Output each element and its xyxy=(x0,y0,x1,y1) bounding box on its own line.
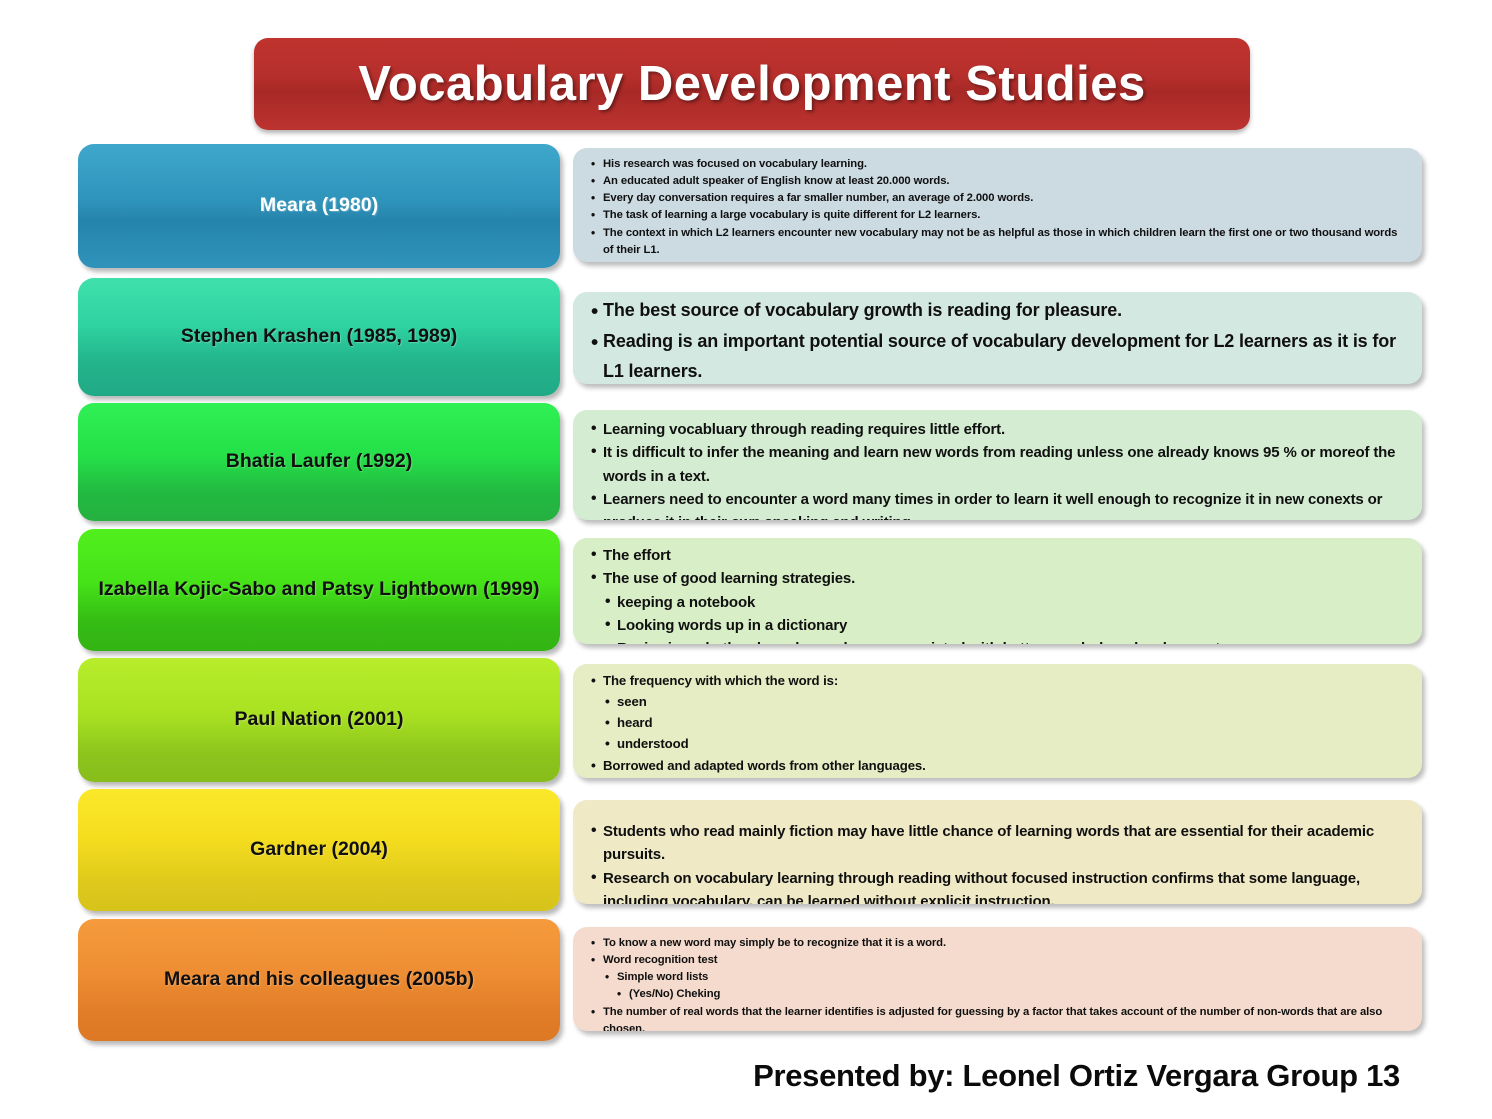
infographic-canvas: Vocabulary Development Studies Meara (19… xyxy=(0,0,1492,1119)
study-label-text: Stephen Krashen (1985, 1989) xyxy=(181,325,457,349)
findings-list: His research was focused on vocabulary l… xyxy=(591,156,1406,262)
study-findings-panel-2: The best source of vocabulary growth is … xyxy=(573,292,1422,384)
study-label-text: Meara and his colleagues (2005b) xyxy=(164,968,474,992)
study-findings-panel-5: The frequency with which the word is:see… xyxy=(573,664,1422,778)
finding-item: Simple word lists xyxy=(591,969,1406,986)
finding-item: The frequency with which the word is: xyxy=(591,670,1406,691)
finding-item: The effort xyxy=(591,544,1406,567)
finding-item: To know a new word may simply be to reco… xyxy=(591,935,1406,952)
finding-item: heard xyxy=(591,712,1406,733)
finding-item: Every day conversation requires a far sm… xyxy=(591,190,1406,207)
finding-item: Borrowed and adapted words from other la… xyxy=(591,755,1406,776)
finding-item: An educated adult speaker of English kno… xyxy=(591,173,1406,190)
finding-item: The task of learning a large vocabulary … xyxy=(591,207,1406,224)
study-label-text: Gardner (2004) xyxy=(250,838,388,862)
finding-item: Word recognition test xyxy=(591,952,1406,969)
finding-item: Looking words up in a dictionary xyxy=(591,614,1406,637)
finding-item: keeping a notebook xyxy=(591,591,1406,614)
study-label-2[interactable]: Stephen Krashen (1985, 1989) xyxy=(78,278,560,396)
finding-item: The use of good learning strategies. xyxy=(591,567,1406,590)
finding-item: The best source of vocabulary growth is … xyxy=(591,295,1406,326)
finding-item: The context in which L2 learners encount… xyxy=(591,225,1406,259)
study-label-7[interactable]: Meara and his colleagues (2005b) xyxy=(78,919,560,1041)
finding-item: Learners need to encounter a word many t… xyxy=(591,488,1406,520)
study-findings-panel-4: The effortThe use of good learning strat… xyxy=(573,538,1422,644)
finding-item: If they are older children or adults, th… xyxy=(591,259,1406,262)
findings-list: To know a new word may simply be to reco… xyxy=(591,935,1406,1031)
findings-list: Learning vocabluary through reading requ… xyxy=(591,418,1406,520)
finding-item: The number of real words that the learne… xyxy=(591,1004,1406,1031)
finding-item: (Yes/No) Cheking xyxy=(591,986,1406,1003)
finding-item: Students who read mainly fiction may hav… xyxy=(591,820,1406,867)
study-label-6[interactable]: Gardner (2004) xyxy=(78,789,560,911)
study-label-1[interactable]: Meara (1980) xyxy=(78,144,560,268)
findings-list: The effortThe use of good learning strat… xyxy=(591,544,1406,644)
findings-list: The best source of vocabulary growth is … xyxy=(591,295,1406,384)
finding-item: It is difficult to infer the meaning and… xyxy=(591,441,1406,488)
study-label-text: Izabella Kojic-Sabo and Patsy Lightbown … xyxy=(99,578,540,602)
findings-list: The frequency with which the word is:see… xyxy=(591,670,1406,778)
finding-item: Reading is an important potential source… xyxy=(591,326,1406,384)
finding-item: His research was focused on vocabulary l… xyxy=(591,156,1406,173)
study-label-text: Meara (1980) xyxy=(260,194,378,218)
finding-item: Words that look similar and have the sam… xyxy=(591,776,1406,778)
findings-list: Students who read mainly fiction may hav… xyxy=(591,820,1406,904)
study-label-5[interactable]: Paul Nation (2001) xyxy=(78,658,560,782)
study-findings-panel-6: Students who read mainly fiction may hav… xyxy=(573,800,1422,904)
study-findings-panel-3: Learning vocabluary through reading requ… xyxy=(573,410,1422,520)
finding-item: seen xyxy=(591,691,1406,712)
study-findings-panel-7: To know a new word may simply be to reco… xyxy=(573,927,1422,1031)
presenter-credit: Presented by: Leonel Ortiz Vergara Group… xyxy=(0,1058,1400,1094)
page-title: Vocabulary Development Studies xyxy=(358,56,1145,112)
study-label-3[interactable]: Bhatia Laufer (1992) xyxy=(78,403,560,521)
study-findings-panel-1: His research was focused on vocabulary l… xyxy=(573,148,1422,262)
finding-item: Reviewing whathas been learned were asso… xyxy=(591,637,1406,644)
finding-item: Research on vocabulary learning through … xyxy=(591,867,1406,905)
finding-item: understood xyxy=(591,733,1406,754)
study-label-text: Bhatia Laufer (1992) xyxy=(226,450,412,474)
finding-item: Learning vocabluary through reading requ… xyxy=(591,418,1406,441)
page-title-banner: Vocabulary Development Studies xyxy=(254,38,1250,130)
study-label-4[interactable]: Izabella Kojic-Sabo and Patsy Lightbown … xyxy=(78,529,560,651)
study-label-text: Paul Nation (2001) xyxy=(234,708,403,732)
